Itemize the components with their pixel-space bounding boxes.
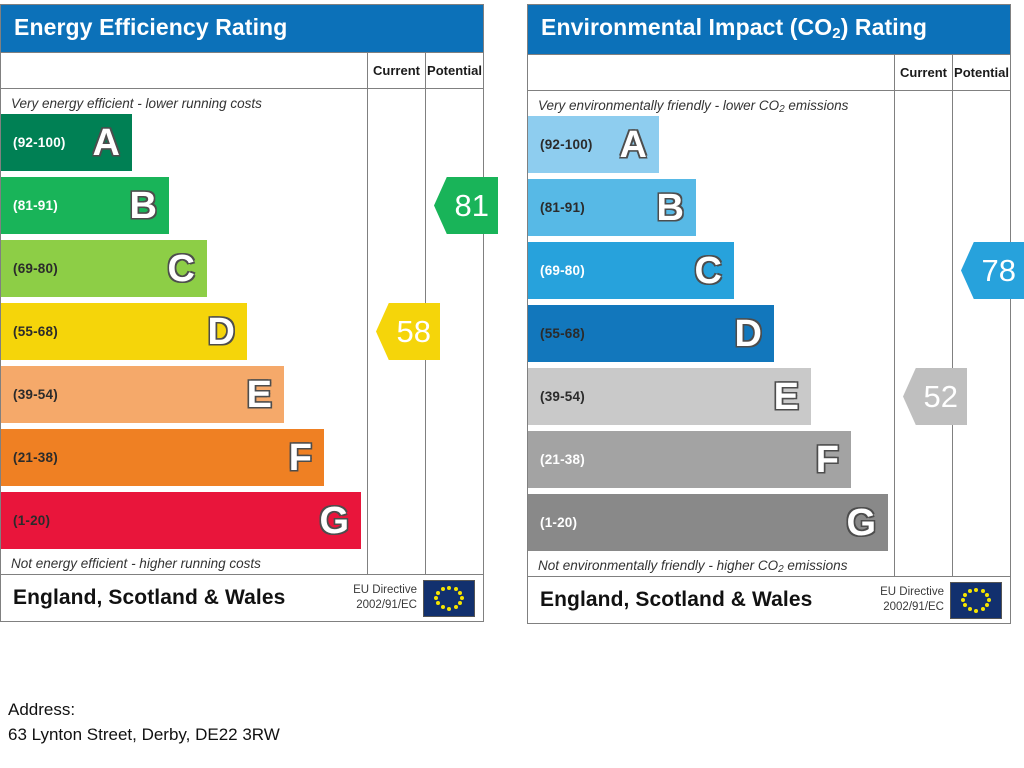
band-range-label: (92-100) [528, 137, 593, 152]
eu-star [968, 589, 972, 593]
band-bar-a: (92-100)A [1, 114, 132, 171]
eu-star [968, 607, 972, 611]
eu-star [987, 598, 991, 602]
co2-title-subscript: 2 [832, 25, 840, 42]
band-bar-a: (92-100)A [528, 116, 659, 173]
energy-footer: England, Scotland & Wales EU Directive 2… [1, 574, 483, 621]
eu-star [434, 596, 438, 600]
energy-current-marker-column: 58 [368, 89, 426, 574]
band-letter: G [319, 502, 349, 540]
band-bar-g: (1-20)G [528, 494, 888, 551]
energy-efficiency-rating-chart: Energy Efficiency Rating Current Potenti… [0, 4, 484, 622]
energy-band-list: (92-100)A(81-91)B(69-80)C(55-68)D(39-54)… [1, 114, 367, 549]
band-letter: D [208, 313, 235, 351]
co2-eu-directive-text: EU Directive 2002/91/EC [880, 585, 950, 614]
band-letter: C [695, 252, 722, 290]
band-range-label: (81-91) [1, 198, 58, 213]
energy-potential-marker-column: 81 [426, 89, 483, 574]
band-letter: E [774, 378, 799, 416]
band-letter: F [816, 441, 839, 479]
eu-star [454, 587, 458, 591]
band-bar-d: (55-68)D [528, 305, 774, 362]
band-range-label: (1-20) [528, 515, 577, 530]
potential-rating-value: 78 [982, 253, 1016, 289]
co2-bottom-caption: Not environmentally friendly - higher CO… [528, 551, 894, 576]
energy-eu-directive-text: EU Directive 2002/91/EC [353, 583, 423, 612]
co2-chart-body: Very environmentally friendly - lower CO… [528, 91, 1010, 576]
epc-certificate-page: Energy Efficiency Rating Current Potenti… [0, 0, 1024, 768]
energy-current-column-header: Current [368, 53, 426, 88]
co2-top-caption: Very environmentally friendly - lower CO… [528, 91, 894, 116]
potential-rating-value: 81 [455, 188, 489, 224]
co2-column-header-row: Current Potential [528, 55, 1010, 91]
band-bar-c: (69-80)C [528, 242, 734, 299]
eu-star [974, 609, 978, 613]
address-value: 63 Lynton Street, Derby, DE22 3RW [8, 722, 280, 747]
band-letter: F [289, 439, 312, 477]
co2-header-spacer [528, 55, 895, 90]
band-range-label: (1-20) [1, 513, 50, 528]
energy-top-caption: Very energy efficient - lower running co… [1, 89, 367, 114]
eu-star [447, 607, 451, 611]
eu-star [447, 586, 451, 590]
band-letter: D [735, 315, 762, 353]
eu-star [981, 589, 985, 593]
co2-title-tail: ) Rating [841, 14, 927, 40]
band-letter: A [93, 124, 120, 162]
band-letter: E [247, 376, 272, 414]
potential-rating-marker: 81 [434, 177, 498, 234]
eu-star [961, 598, 965, 602]
band-bar-c: (69-80)C [1, 240, 207, 297]
co2-region-label: England, Scotland & Wales [528, 588, 880, 612]
band-range-label: (39-54) [1, 387, 58, 402]
eu-star [963, 603, 967, 607]
band-bar-f: (21-38)F [1, 429, 324, 486]
band-range-label: (92-100) [1, 135, 66, 150]
eu-star [981, 607, 985, 611]
eu-flag-icon [423, 580, 475, 617]
band-letter: A [620, 126, 647, 164]
band-bar-g: (1-20)G [1, 492, 361, 549]
eu-star [436, 591, 440, 595]
energy-directive-line-1: EU Directive [353, 583, 417, 598]
energy-bottom-caption: Not energy efficient - higher running co… [1, 549, 367, 574]
band-range-label: (81-91) [528, 200, 585, 215]
energy-bars-column: Very energy efficient - lower running co… [1, 89, 368, 574]
co2-title-main: Environmental Impact (CO [541, 14, 832, 40]
band-bar-d: (55-68)D [1, 303, 247, 360]
co2-top-caption-pre: Very environmentally friendly - lower CO [538, 98, 779, 113]
co2-chart-title: Environmental Impact (CO2) Rating [528, 5, 1010, 55]
band-range-label: (21-38) [528, 452, 585, 467]
band-letter: B [130, 187, 157, 225]
eu-star [985, 603, 989, 607]
eu-star [963, 593, 967, 597]
band-bar-f: (21-38)F [528, 431, 851, 488]
co2-bottom-caption-post: emissions [784, 558, 848, 573]
band-bar-b: (81-91)B [1, 177, 169, 234]
eu-star [454, 605, 458, 609]
eu-star [985, 593, 989, 597]
potential-rating-marker: 78 [961, 242, 1024, 299]
band-bar-e: (39-54)E [1, 366, 284, 423]
co2-bottom-caption-pre: Not environmentally friendly - higher CO [538, 558, 778, 573]
eu-star [441, 587, 445, 591]
band-range-label: (39-54) [528, 389, 585, 404]
energy-header-spacer [1, 53, 368, 88]
address-block: Address: 63 Lynton Street, Derby, DE22 3… [8, 697, 280, 747]
energy-chart-title: Energy Efficiency Rating [1, 5, 483, 53]
co2-potential-column-header: Potential [953, 55, 1010, 90]
eu-star [974, 588, 978, 592]
energy-directive-line-2: 2002/91/EC [353, 598, 417, 613]
band-range-label: (69-80) [1, 261, 58, 276]
band-letter: C [168, 250, 195, 288]
energy-chart-body: Very energy efficient - lower running co… [1, 89, 483, 574]
co2-top-caption-post: emissions [785, 98, 849, 113]
eu-star [441, 605, 445, 609]
band-bar-e: (39-54)E [528, 368, 811, 425]
co2-band-list: (92-100)A(81-91)B(69-80)C(55-68)D(39-54)… [528, 116, 894, 551]
co2-potential-marker-column: 78 [953, 91, 1010, 576]
co2-current-marker-column: 52 [895, 91, 953, 576]
band-bar-b: (81-91)B [528, 179, 696, 236]
band-range-label: (55-68) [528, 326, 585, 341]
co2-directive-line-2: 2002/91/EC [880, 600, 944, 615]
environmental-impact-rating-chart: Environmental Impact (CO2) Rating Curren… [527, 4, 1011, 624]
energy-region-label: England, Scotland & Wales [1, 586, 353, 610]
co2-bars-column: Very environmentally friendly - lower CO… [528, 91, 895, 576]
eu-star [460, 596, 464, 600]
co2-directive-line-1: EU Directive [880, 585, 944, 600]
address-label: Address: [8, 697, 280, 722]
energy-column-header-row: Current Potential [1, 53, 483, 89]
energy-potential-column-header: Potential [426, 53, 483, 88]
co2-footer: England, Scotland & Wales EU Directive 2… [528, 576, 1010, 623]
band-range-label: (21-38) [1, 450, 58, 465]
eu-star [436, 601, 440, 605]
band-range-label: (55-68) [1, 324, 58, 339]
band-letter: G [846, 504, 876, 542]
band-letter: B [657, 189, 684, 227]
co2-current-column-header: Current [895, 55, 953, 90]
band-range-label: (69-80) [528, 263, 585, 278]
eu-star [458, 591, 462, 595]
eu-flag-icon [950, 582, 1002, 619]
eu-star [458, 601, 462, 605]
